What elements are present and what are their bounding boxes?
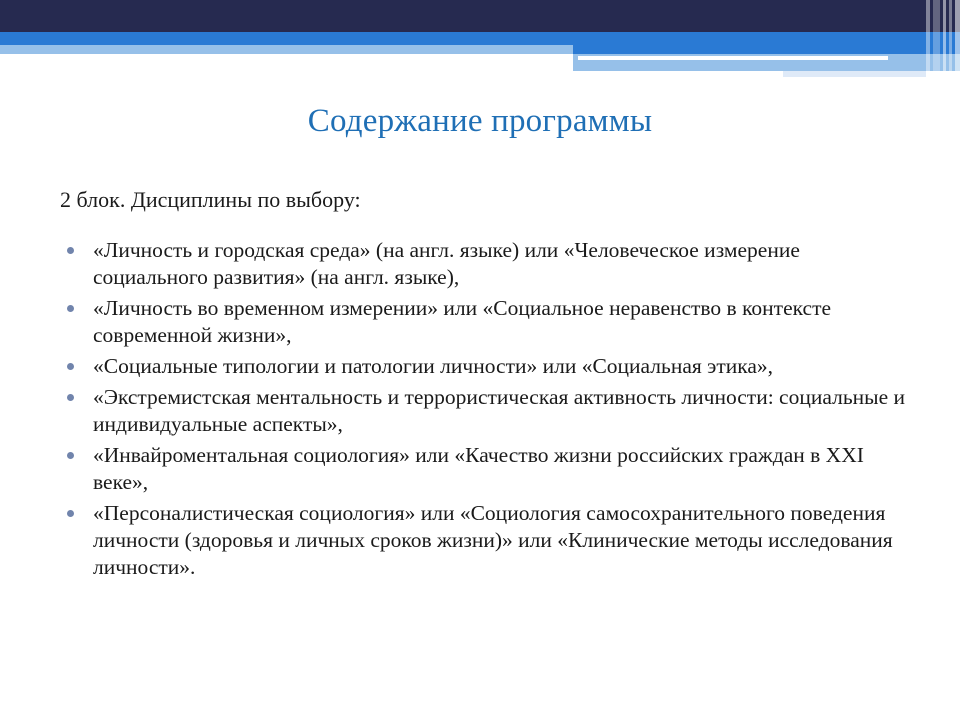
list-item: «Личность во временном измерении» или «С… xyxy=(60,295,910,349)
stripe-bottom-mask xyxy=(926,71,960,86)
light-blue-band-left xyxy=(0,45,573,54)
bullet-dot-icon xyxy=(67,247,74,254)
white-gap-stripe xyxy=(578,56,888,60)
bullet-dot-icon xyxy=(67,305,74,312)
list-item-text: «Личность и городская среда» (на англ. я… xyxy=(93,238,800,289)
white-fill-stripe xyxy=(573,71,783,77)
list-item-text: «Социальные типологии и патологии личнос… xyxy=(93,354,773,378)
list-item: «Инвайроментальная социология» или «Каче… xyxy=(60,442,910,496)
navy-band xyxy=(0,0,960,32)
list-item-text: «Личность во временном измерении» или «С… xyxy=(93,296,831,347)
bullet-list: «Личность и городская среда» (на англ. я… xyxy=(60,237,910,581)
list-item: «Экстремистская ментальность и террорист… xyxy=(60,384,910,438)
blue-band-right-step xyxy=(573,45,960,54)
intro-text: 2 блок. Дисциплины по выбору: xyxy=(60,185,910,215)
header-decoration-banner xyxy=(0,0,960,86)
list-item: «Персоналистическая социология» или «Соц… xyxy=(60,500,910,581)
bullet-dot-icon xyxy=(67,363,74,370)
list-item: «Личность и городская среда» (на англ. я… xyxy=(60,237,910,291)
slide-title: Содержание программы xyxy=(0,100,960,142)
bullet-dot-icon xyxy=(67,452,74,459)
slide: Содержание программы 2 блок. Дисциплины … xyxy=(0,0,960,720)
bullet-dot-icon xyxy=(67,394,74,401)
list-item-text: «Инвайроментальная социология» или «Каче… xyxy=(93,443,864,494)
list-item-text: «Персоналистическая социология» или «Соц… xyxy=(93,501,893,579)
list-item-text: «Экстремистская ментальность и террорист… xyxy=(93,385,905,436)
slide-body: 2 блок. Дисциплины по выбору: «Личность … xyxy=(60,185,910,585)
list-item: «Социальные типологии и патологии личнос… xyxy=(60,353,910,380)
light-blue-band-lower xyxy=(573,62,960,71)
bullet-dot-icon xyxy=(67,510,74,517)
blue-band xyxy=(0,32,960,45)
